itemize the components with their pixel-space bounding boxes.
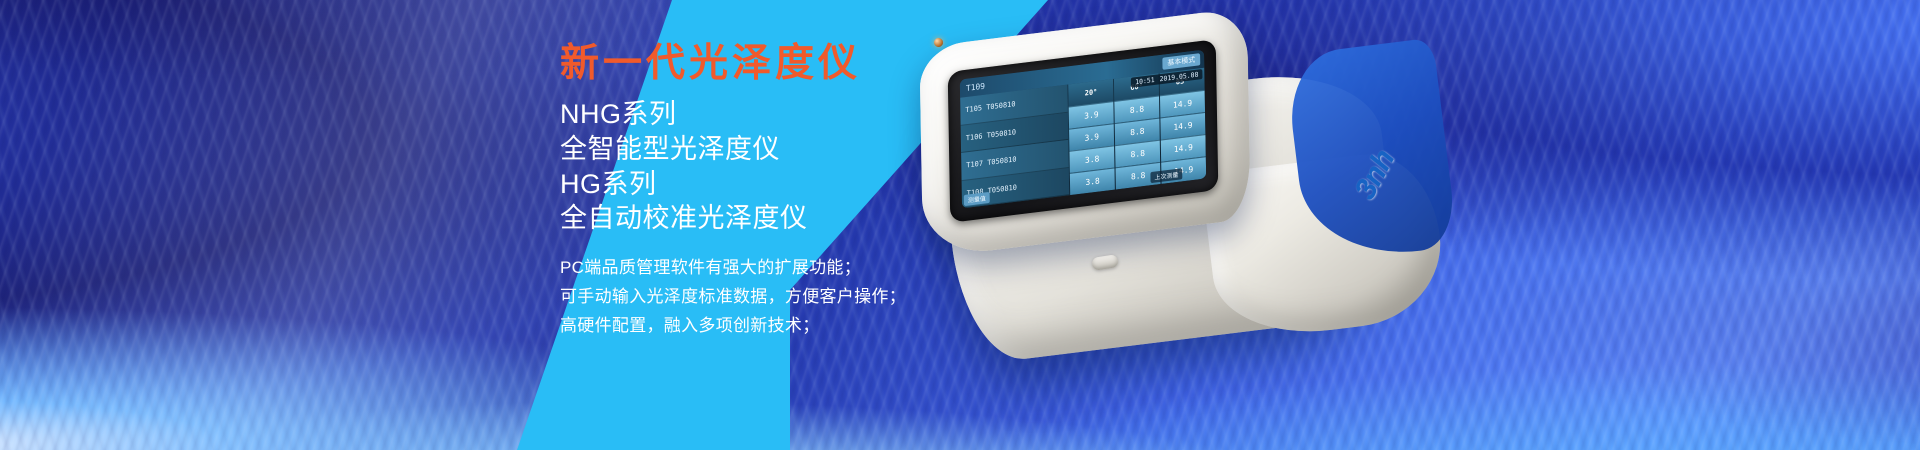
power-led-icon bbox=[933, 37, 943, 47]
angle-column-20: 20° 3.9 3.9 3.8 3.8 bbox=[1068, 79, 1116, 195]
gloss-meter-device: T109 基本模式 T105 T050810 T106 T050810 T107… bbox=[880, 10, 1500, 430]
mode-badge[interactable]: 基本模式 bbox=[1162, 53, 1200, 70]
clock-time: 10:51 bbox=[1135, 76, 1155, 86]
product-banner: 新一代光泽度仪 NHG系列 全智能型光泽度仪 HG系列 全自动校准光泽度仪 PC… bbox=[0, 0, 1920, 450]
sample-id-label: T109 bbox=[960, 81, 985, 93]
sample-list-column[interactable]: T105 T050810 T106 T050810 T107 T050810 T… bbox=[960, 85, 1069, 209]
angle-column-85: 85° 14.9 14.9 14.9 14.9 bbox=[1159, 68, 1207, 184]
